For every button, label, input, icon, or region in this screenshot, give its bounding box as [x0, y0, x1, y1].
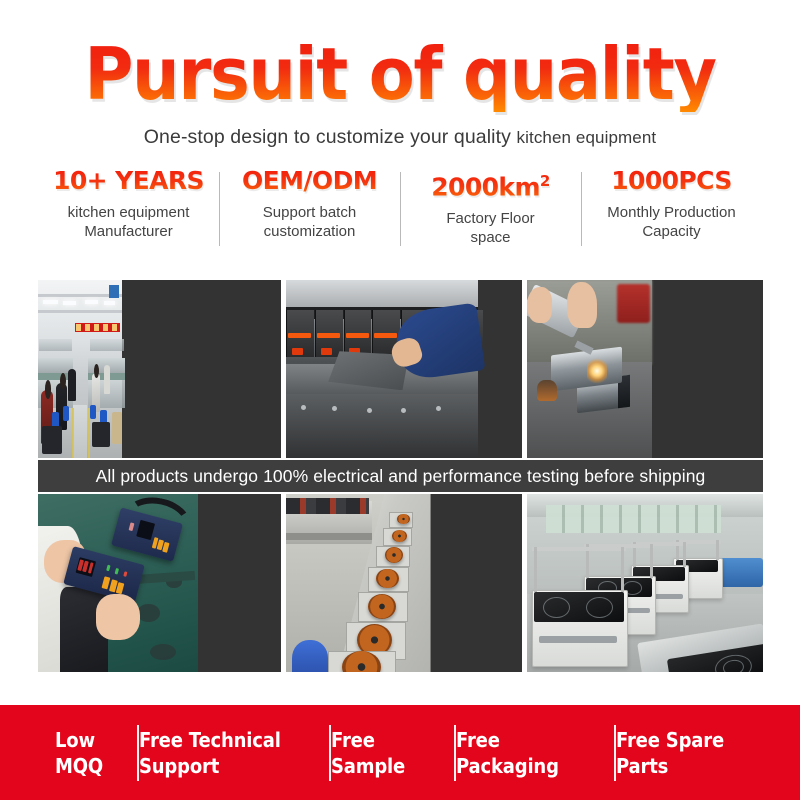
photo-production-line	[286, 494, 522, 672]
stat-floor-space-value: 2000km2	[406, 166, 575, 202]
promo-banner: Pursuit of quality One-stop design to cu…	[0, 0, 800, 800]
perk-low-mqq-label: Low MQQ	[55, 727, 116, 779]
stat-floor-space-desc: Factory Floor space	[406, 209, 575, 247]
hero-section: Pursuit of quality One-stop design to cu…	[0, 36, 800, 149]
page-title: Pursuit of quality	[28, 36, 772, 112]
perks-bar: Low MQQ Free Technical Support Free Samp…	[0, 705, 800, 800]
hero-subtitle-main: One-stop design to customize your qualit…	[144, 126, 517, 148]
gallery-row-bottom	[38, 494, 763, 672]
perk-free-sample-label: Free Sample	[331, 727, 418, 779]
hero-subtitle-small: kitchen equipment	[517, 128, 657, 147]
stat-capacity-desc: Monthly Production Capacity	[587, 203, 756, 241]
perk-free-spare-parts-label: Free Spare Parts	[616, 727, 737, 779]
perk-free-packaging: Free Packaging	[456, 721, 616, 785]
photo-assembly-line	[38, 280, 281, 458]
perk-low-mqq: Low MQQ	[55, 721, 139, 785]
photo-finished-units	[527, 494, 763, 672]
perk-free-technical-support: Free Technical Support	[139, 721, 331, 785]
stat-oem-desc: Support batch customization	[225, 203, 394, 241]
photo-pcb-testing	[38, 494, 281, 672]
photo-welding	[527, 280, 763, 458]
stat-oem-value: OEM/ODM	[225, 166, 394, 196]
stat-oem: OEM/ODM Support batch customization	[219, 166, 400, 256]
hero-subtitle: One-stop design to customize your qualit…	[0, 126, 800, 149]
photo-gallery: All products undergo 100% electrical and…	[38, 280, 763, 672]
perk-free-technical-support-label: Free Technical Support	[139, 727, 293, 779]
stat-years: 10+ YEARS kitchen equipment Manufacturer	[38, 166, 219, 256]
gallery-row-top	[38, 280, 763, 458]
stat-capacity-value: 1000PCS	[587, 166, 756, 196]
perk-free-spare-parts: Free Spare Parts	[616, 721, 755, 785]
stat-floor-space-superscript: 2	[540, 172, 550, 190]
stat-years-desc: kitchen equipment Manufacturer	[44, 203, 213, 241]
photo-press-brake	[286, 280, 522, 458]
stat-capacity: 1000PCS Monthly Production Capacity	[581, 166, 762, 256]
perk-free-packaging-label: Free Packaging	[456, 727, 571, 779]
gallery-caption: All products undergo 100% electrical and…	[38, 460, 763, 492]
perk-free-sample: Free Sample	[331, 721, 456, 785]
stats-row: 10+ YEARS kitchen equipment Manufacturer…	[38, 166, 762, 256]
stat-floor-space-number: 2000km	[431, 172, 540, 201]
stat-floor-space: 2000km2 Factory Floor space	[400, 166, 581, 256]
stat-years-value: 10+ YEARS	[44, 166, 213, 196]
